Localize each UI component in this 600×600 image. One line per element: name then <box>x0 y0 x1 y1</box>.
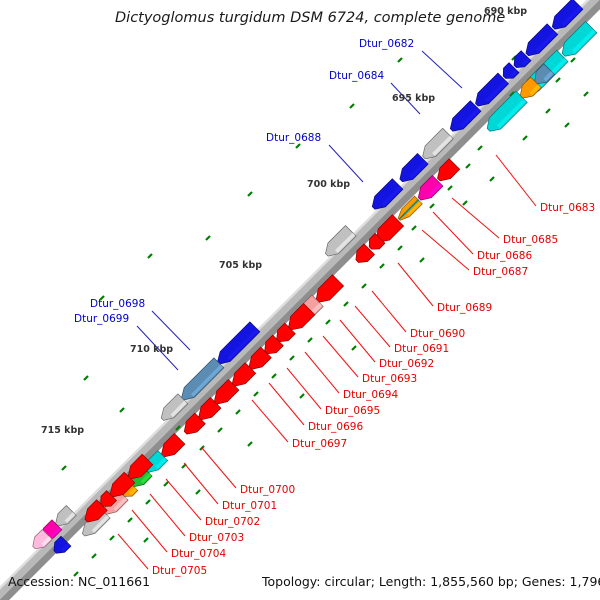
gene-label-dtur_0694[interactable]: Dtur_0694 <box>343 389 398 401</box>
gene-label-dtur_0698[interactable]: Dtur_0698 <box>90 298 145 310</box>
gene-label-dtur_0705[interactable]: Dtur_0705 <box>152 565 207 577</box>
scale-tick-label: 695 kbp <box>392 93 435 104</box>
gene-label-dtur_0704[interactable]: Dtur_0704 <box>171 548 226 560</box>
gene-label-dtur_0686[interactable]: Dtur_0686 <box>477 250 532 262</box>
gene-label-dtur_0691[interactable]: Dtur_0691 <box>394 343 449 355</box>
gene-label-dtur_0703[interactable]: Dtur_0703 <box>189 532 244 544</box>
scale-tick-label: 705 kbp <box>219 260 262 271</box>
genome-map-viewer: 690 kbp695 kbp700 kbp705 kbp710 kbp715 k… <box>0 0 600 600</box>
gene-label-dtur_0683[interactable]: Dtur_0683 <box>540 202 595 214</box>
gene-label-dtur_0702[interactable]: Dtur_0702 <box>205 516 260 528</box>
gene-label-dtur_0696[interactable]: Dtur_0696 <box>308 421 363 433</box>
accession-label: Accession: NC_011661 <box>8 574 150 589</box>
scale-tick-label: 700 kbp <box>307 179 350 190</box>
gene-label-dtur_0689[interactable]: Dtur_0689 <box>437 302 492 314</box>
gene-label-dtur_0690[interactable]: Dtur_0690 <box>410 328 465 340</box>
gene-label-dtur_0701[interactable]: Dtur_0701 <box>222 500 277 512</box>
gene-label-dtur_0692[interactable]: Dtur_0692 <box>379 358 434 370</box>
gene-label-dtur_0682[interactable]: Dtur_0682 <box>359 38 414 50</box>
gene-label-dtur_0699[interactable]: Dtur_0699 <box>74 313 129 325</box>
gene-label-dtur_0693[interactable]: Dtur_0693 <box>362 373 417 385</box>
gene-label-dtur_0695[interactable]: Dtur_0695 <box>325 405 380 417</box>
gene-label-dtur_0697[interactable]: Dtur_0697 <box>292 438 347 450</box>
scale-tick-label: 710 kbp <box>130 344 173 355</box>
page-title: Dictyoglomus turgidum DSM 6724, complete… <box>115 10 505 26</box>
gene-label-dtur_0684[interactable]: Dtur_0684 <box>329 70 384 82</box>
scale-tick-label: 715 kbp <box>41 425 84 436</box>
gene-label-dtur_0687[interactable]: Dtur_0687 <box>473 266 528 278</box>
genome-summary: Topology: circular; Length: 1,855,560 bp… <box>261 574 600 589</box>
gene-label-dtur_0685[interactable]: Dtur_0685 <box>503 234 558 246</box>
gene-label-dtur_0700[interactable]: Dtur_0700 <box>240 484 295 496</box>
gene-label-dtur_0688[interactable]: Dtur_0688 <box>266 132 321 144</box>
